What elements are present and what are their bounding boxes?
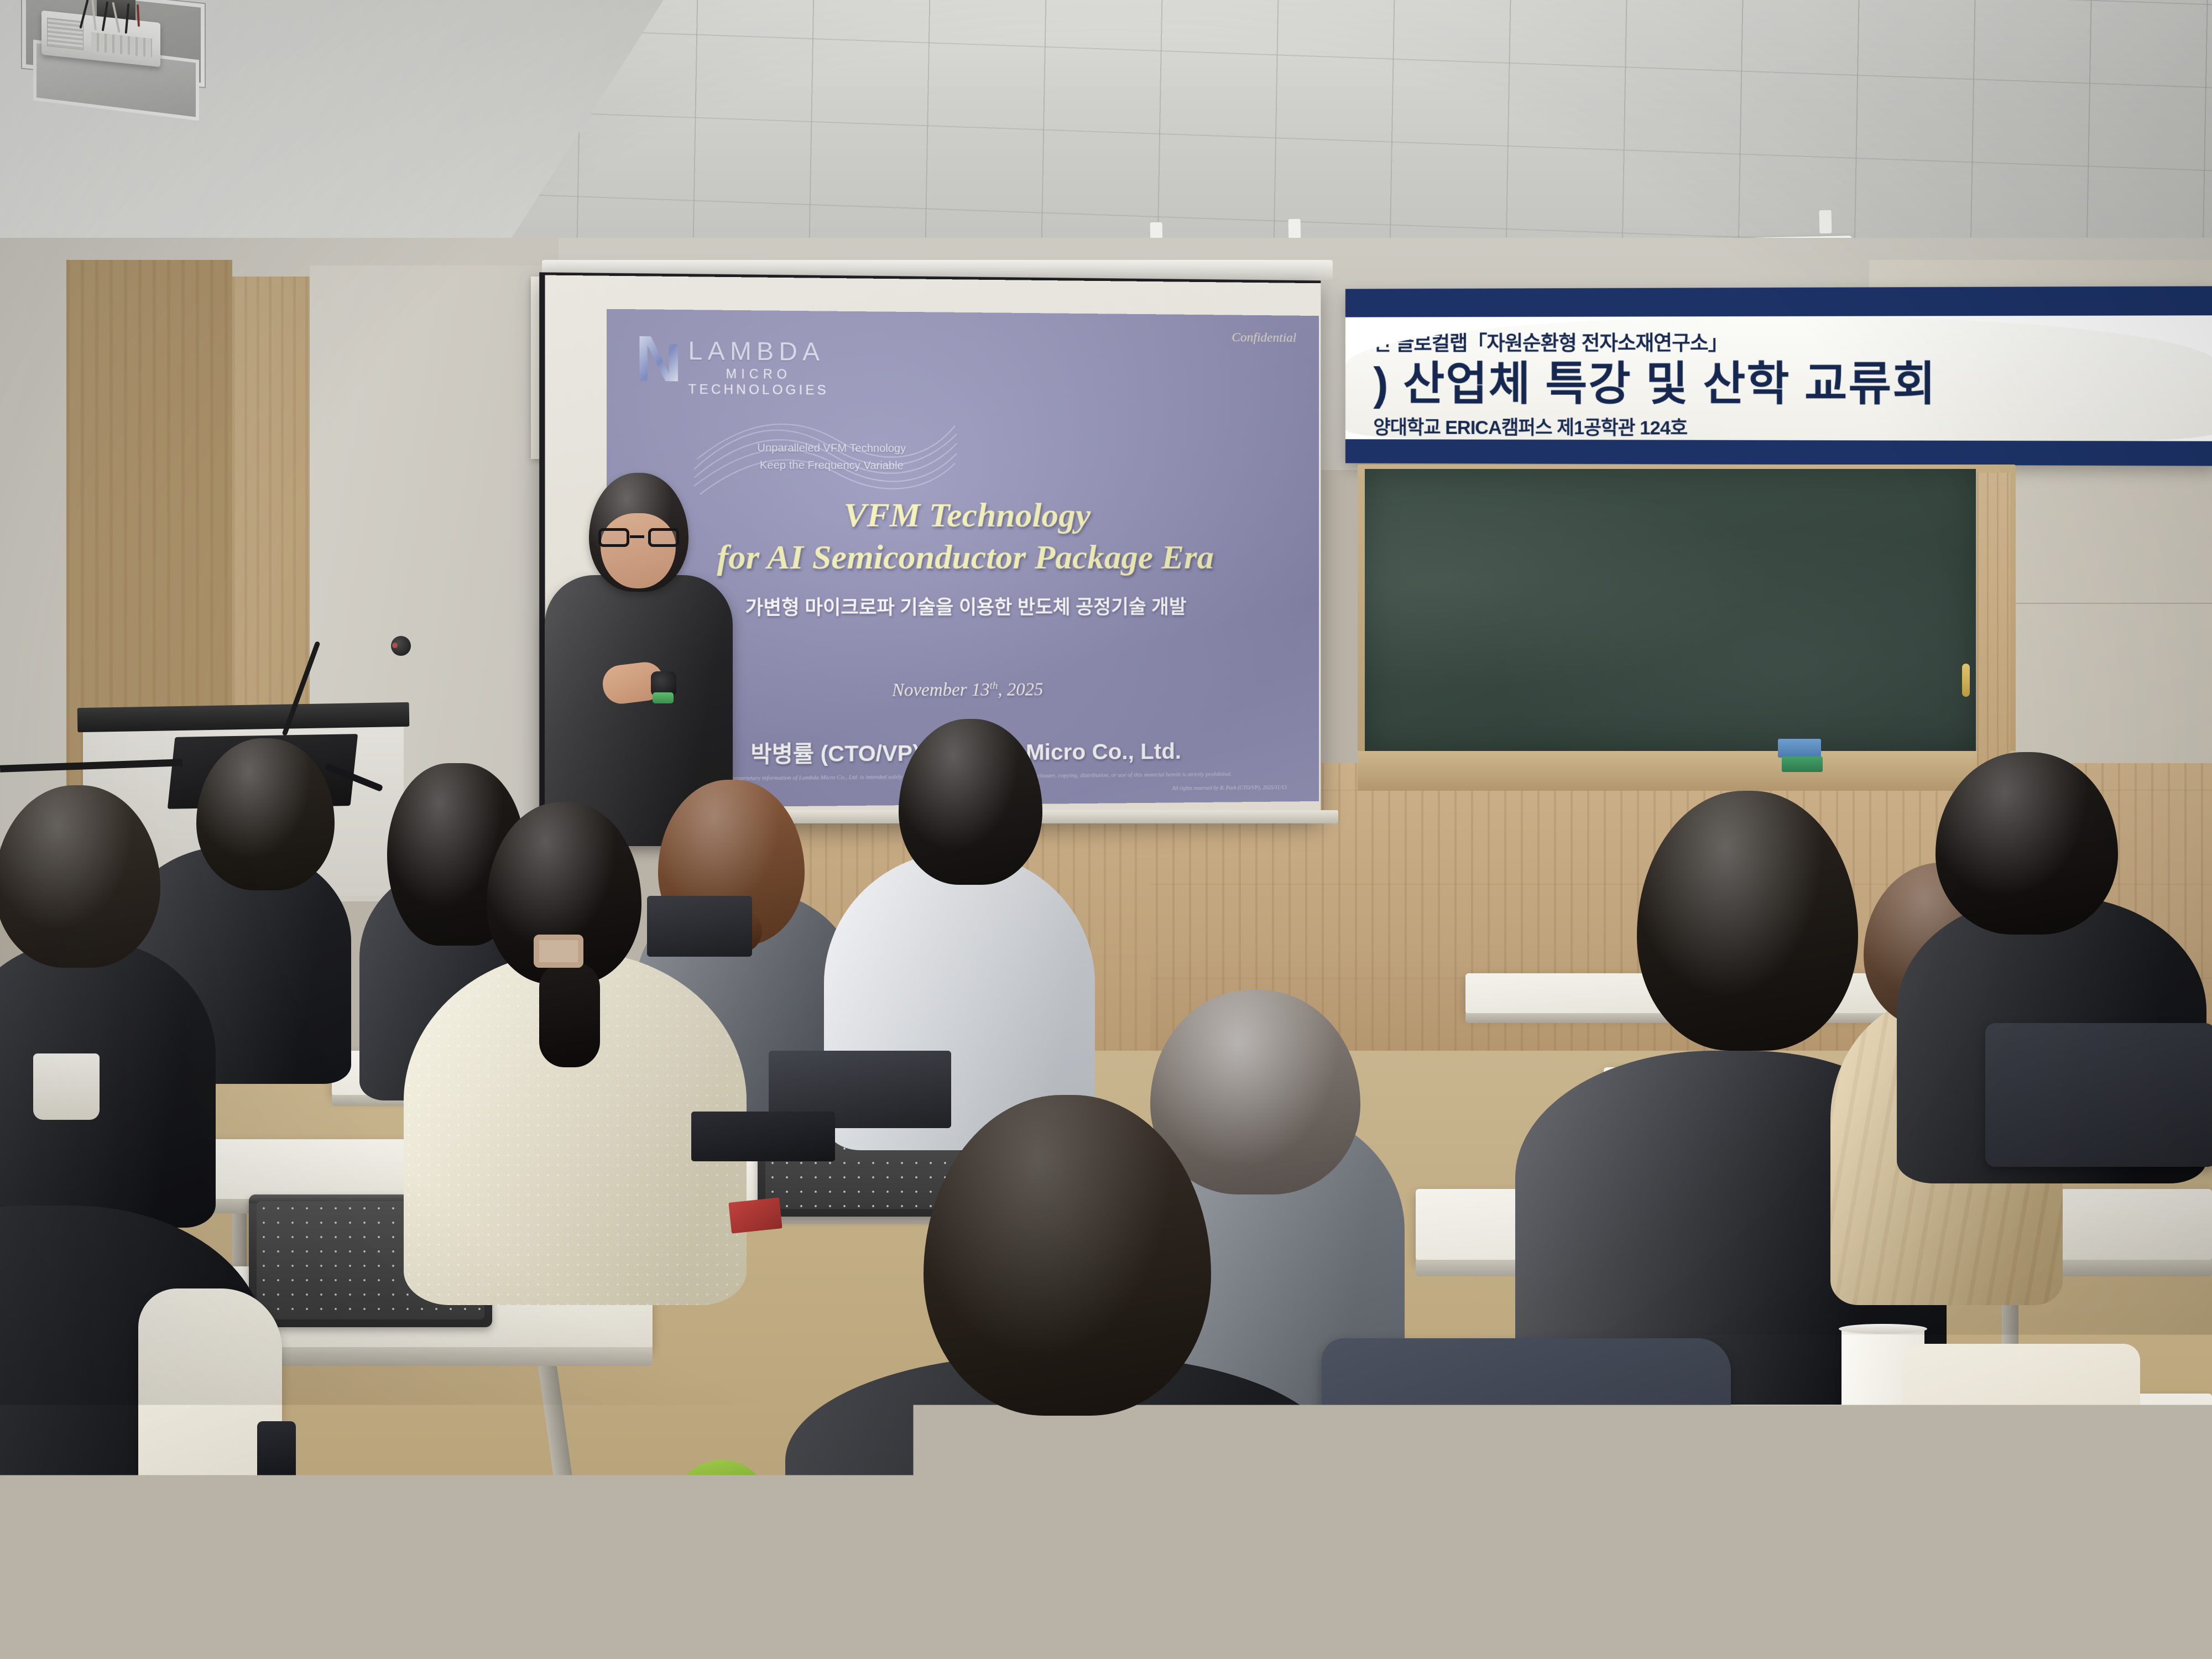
- laptop-back: [647, 896, 752, 957]
- paper-cup: [33, 1053, 100, 1120]
- banner-bottom-bar: [1345, 439, 2212, 466]
- glasses-icon: [598, 528, 679, 549]
- event-banner: 단 글로컬랩「자원순환형 전자소재연구소」 ) 산업체 특강 및 산학 교류회 …: [1345, 286, 2212, 466]
- confidential-mark: Confidential: [1232, 330, 1296, 346]
- ponytail: [539, 962, 600, 1067]
- slide-rights-line: All rights reserved by B. Park (CTO/VP),…: [1172, 785, 1287, 792]
- watch-band: [653, 692, 674, 703]
- lambda-mark-icon: [636, 333, 681, 385]
- draped-coat: [1322, 1338, 1731, 1659]
- logo-sub-technologies: TECHNOLOGIES: [688, 383, 828, 398]
- backpack: [1985, 1023, 2212, 1167]
- draped-cream-fabric: [1902, 1344, 2140, 1510]
- tagline-line-2: Keep the Frequency Variable: [760, 460, 904, 472]
- logo-name: LAMBDA: [688, 338, 828, 364]
- banner-line-1: 단 글로컬랩「자원순환형 전자소재연구소」: [1373, 326, 2212, 357]
- logo-sub-micro: MICRO: [688, 367, 828, 381]
- green-eraser-icon: [1782, 757, 1823, 772]
- slide-date-superscript: th: [990, 680, 998, 692]
- hair-clip-icon: [534, 935, 583, 968]
- red-notebook[interactable]: [728, 1197, 782, 1233]
- projector-vent: [47, 18, 84, 50]
- door-jamb: [1977, 473, 2010, 794]
- blue-eraser-icon: [1778, 739, 1821, 758]
- lambda-logo: LAMBDA MICRO TECHNOLOGIES: [636, 333, 828, 398]
- microphone-icon: [391, 636, 411, 656]
- smartphone-icon[interactable]: [257, 1421, 296, 1488]
- slide-title: VFM Technology for AI Semiconductor Pack…: [607, 494, 1319, 578]
- green-bag-item: [680, 1460, 763, 1526]
- chair-caster: [2007, 1565, 2036, 1594]
- slide-title-line-1: VFM Technology: [607, 494, 1319, 537]
- banner-line-2: ) 산업체 특강 및 산학 교류회: [1373, 358, 2212, 410]
- ceiling: [0, 0, 2212, 260]
- chalk-dust: [1365, 469, 1976, 751]
- tagline-line-1: Unparalleled VFM Technology: [757, 442, 906, 455]
- slide-date-suffix: , 2025: [998, 680, 1043, 700]
- slide-title-line-2: for AI Semiconductor Package Era: [607, 536, 1319, 579]
- cup-rim: [1839, 1324, 1927, 1334]
- laptop-back: [691, 1112, 835, 1161]
- light-hanger: [1819, 210, 1832, 233]
- door-handle[interactable]: [1962, 664, 1970, 697]
- banner-line-3: 양대학교 ERICA캠퍼스 제1공학관 124호: [1373, 412, 2212, 441]
- chalkboard-ledge: [1358, 751, 2016, 791]
- lambda-logo-text: LAMBDA MICRO TECHNOLOGIES: [688, 333, 828, 398]
- banner-top-bar: [1345, 286, 2212, 317]
- lecture-hall-photo: 한양 단 글로컬랩「자원순환형 전자소재연구소」 ) 산업체 특강 및 산학 교…: [0, 0, 2212, 1659]
- banner-body: 단 글로컬랩「자원순환형 전자소재연구소」 ) 산업체 특강 및 산학 교류회 …: [1345, 315, 2212, 441]
- slide-date-prefix: November 13: [892, 680, 990, 701]
- chalkboard: [1365, 469, 1976, 751]
- lambda-tagline: Unparalleled VFM Technology Keep the Fre…: [711, 440, 951, 475]
